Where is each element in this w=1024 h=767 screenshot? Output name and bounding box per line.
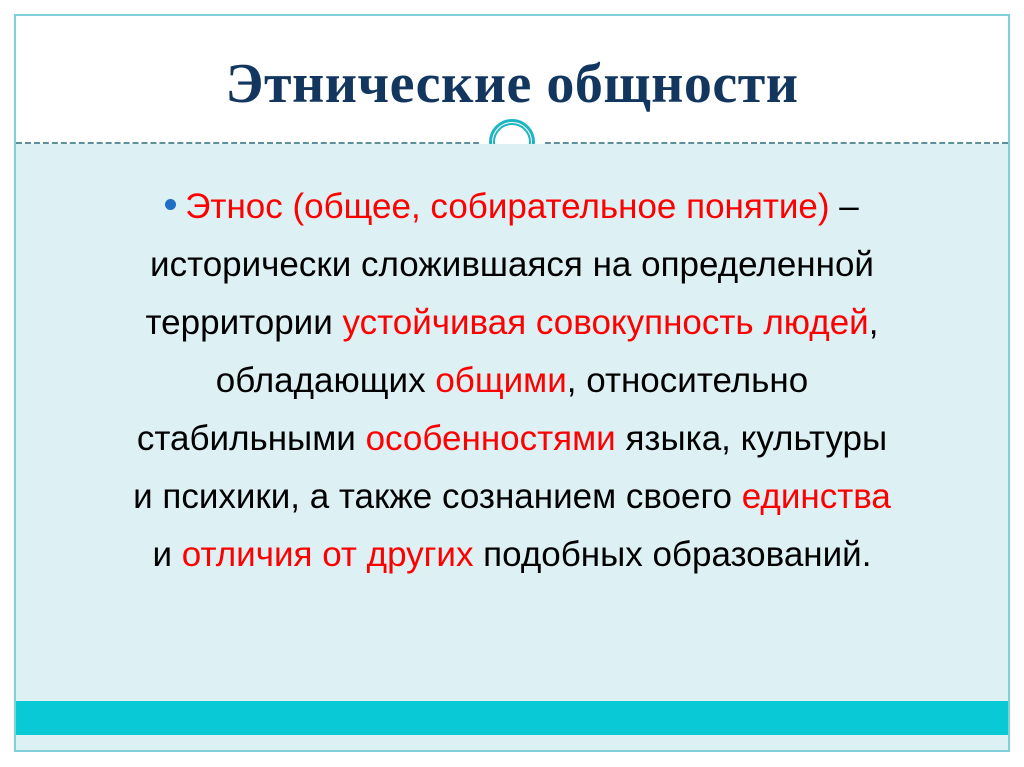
text-run: особенностями bbox=[366, 419, 616, 458]
text-run: , bbox=[869, 303, 879, 342]
body-area: Этнос (общее, собирательное понятие) –ис… bbox=[16, 144, 1008, 750]
text-run: территории bbox=[146, 303, 343, 342]
text-run: , относительно bbox=[567, 361, 808, 400]
definition-text: Этнос (общее, собирательное понятие) –ис… bbox=[133, 187, 891, 574]
text-run: подобных образований. bbox=[473, 535, 871, 574]
content-block: Этнос (общее, собирательное понятие) –ис… bbox=[16, 178, 1008, 584]
text-run: единства bbox=[742, 477, 891, 516]
text-run: – bbox=[830, 187, 859, 226]
slide-frame: Этнические общности Этнос (общее, собира… bbox=[14, 14, 1010, 752]
text-run: отличия от других bbox=[182, 535, 474, 574]
text-run: обладающих bbox=[216, 361, 436, 400]
bullet-dot-icon bbox=[165, 199, 176, 210]
text-run: языка, культуры bbox=[616, 419, 887, 458]
text-run: и bbox=[153, 535, 182, 574]
accent-bar bbox=[16, 701, 1008, 735]
text-run: Этнос (общее, собирательное понятие) bbox=[185, 187, 829, 226]
text-run: исторически сложившаяся на определенной bbox=[150, 245, 874, 284]
text-run: стабильными bbox=[137, 419, 366, 458]
text-run: и психики, а также сознанием своего bbox=[133, 477, 742, 516]
definition-paragraph: Этнос (общее, собирательное понятие) –ис… bbox=[30, 178, 994, 584]
page-title: Этнические общности bbox=[225, 55, 798, 114]
slide: Этнические общности Этнос (общее, собира… bbox=[0, 0, 1024, 767]
text-run: устойчивая совокупность людей bbox=[343, 303, 869, 342]
text-run: общими bbox=[435, 361, 566, 400]
